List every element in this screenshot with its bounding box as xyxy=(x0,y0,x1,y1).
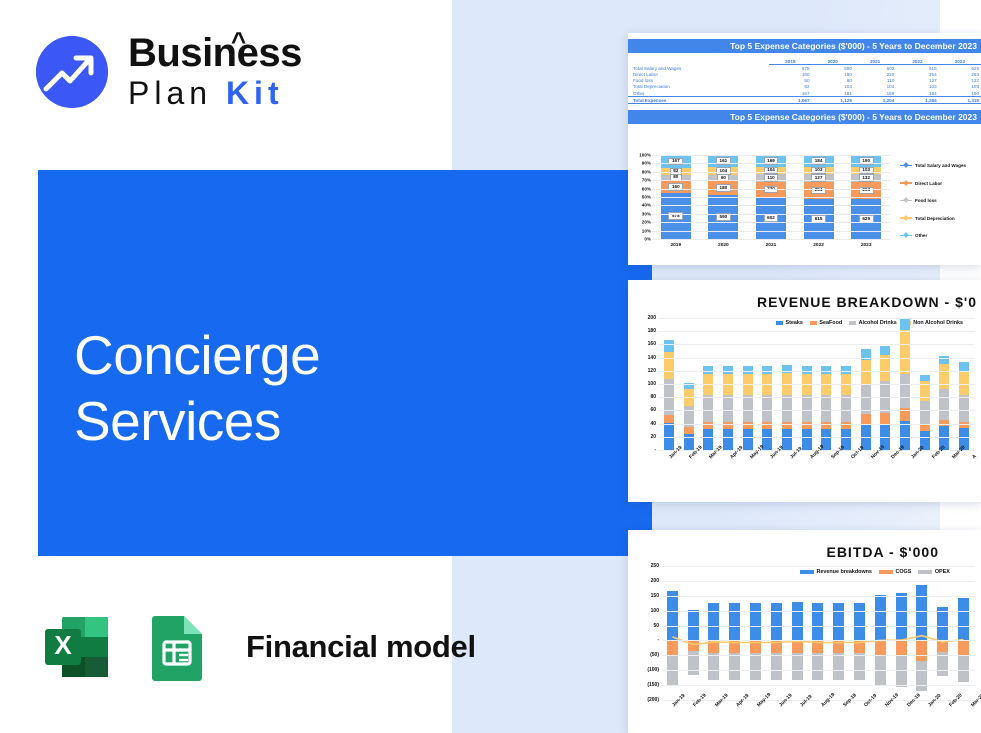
bar-opex xyxy=(708,653,719,680)
stacked-bar-segment xyxy=(900,330,910,374)
y-tick: 30% xyxy=(642,211,651,216)
gridline xyxy=(652,222,890,223)
stacked-bar-segment: 602 xyxy=(756,197,786,239)
brand-wordmark: ^ Business Plan Kit xyxy=(128,32,302,112)
legend-label: Direct Labor xyxy=(915,181,942,186)
stacked-bar-segment xyxy=(703,395,713,422)
stacked-bar-segment: 127 xyxy=(804,174,834,182)
stacked-bar-segment xyxy=(782,395,792,422)
bar-revenue xyxy=(896,593,907,640)
gridline xyxy=(658,358,975,359)
legend-label: Total Salary and Wages xyxy=(915,163,966,168)
stacked-bar-segment xyxy=(861,360,871,385)
y-tick: 80 xyxy=(650,394,656,400)
y-tick: 100% xyxy=(639,153,651,158)
svg-text:X: X xyxy=(54,630,72,660)
bar-cogs xyxy=(896,640,907,656)
legend-swatch xyxy=(900,235,912,237)
stacked-bar-segment: 167 xyxy=(661,155,691,168)
stacked-bar-segment xyxy=(802,395,812,422)
x-tick: 2020 xyxy=(718,243,729,248)
legend-swatch xyxy=(900,217,912,219)
bar-revenue xyxy=(833,603,844,641)
gridline xyxy=(652,231,890,232)
stacked-bar-segment xyxy=(900,318,910,330)
expense-categories-card: Top 5 Expense Categories ($'000) - 5 Yea… xyxy=(628,33,981,265)
legend-item: Other xyxy=(900,233,980,238)
stacked-bar-segment xyxy=(939,389,949,420)
stacked-bar-segment: 132 xyxy=(851,174,881,182)
x-tick: 2019 xyxy=(670,243,681,248)
bar-revenue xyxy=(771,603,782,641)
gridline xyxy=(662,611,975,612)
y-tick: (150) xyxy=(647,682,659,688)
stacked-bar-segment: 184 xyxy=(804,155,834,167)
bar-column xyxy=(957,566,970,700)
stacked-bar-segment xyxy=(959,362,969,371)
bar-revenue xyxy=(854,603,865,641)
bar-column xyxy=(666,566,679,700)
y-tick: 140 xyxy=(648,355,656,361)
bar-revenue xyxy=(792,602,803,640)
bar-cogs xyxy=(771,640,782,653)
stacked-bar-segment xyxy=(723,429,733,450)
bar-revenue xyxy=(916,585,927,640)
bar-revenue xyxy=(708,603,719,641)
stacked-bar-segment: 161 xyxy=(708,155,738,167)
expense-chart-legend: Total Salary and WagesDirect LaborFood l… xyxy=(900,163,980,251)
y-tick: (100) xyxy=(647,667,659,673)
revenue-chart-title: REVENUE BREAKDOWN - $'0 xyxy=(628,294,981,310)
stacked-bar-segment xyxy=(664,340,674,351)
brand-kit-text: Kit xyxy=(226,75,284,111)
gridline xyxy=(652,239,890,240)
y-tick: 180 xyxy=(648,328,656,334)
gridline xyxy=(662,596,975,597)
bar-value-label: 220 xyxy=(764,186,779,194)
bar-column xyxy=(770,566,783,700)
bar-opex xyxy=(854,653,865,680)
revenue-chart-plot: 20018016014012010080604020- xyxy=(632,318,977,450)
bar-opex xyxy=(916,661,927,691)
gridline xyxy=(662,670,975,671)
bar-column xyxy=(687,566,700,700)
gridline xyxy=(662,685,975,686)
stacked-bar-segment xyxy=(723,395,733,422)
gridline xyxy=(652,155,890,156)
bar-revenue xyxy=(958,598,969,641)
expense-stacked-chart: 100%90%80%70%60%50%40%30%20%10%0% 167828… xyxy=(630,155,894,250)
stacked-bar-segment xyxy=(664,415,674,423)
bar-value-label: 167 xyxy=(668,158,683,166)
bar-opex xyxy=(750,653,761,680)
bar-cogs xyxy=(792,640,803,653)
gridline xyxy=(658,397,975,398)
table-header-row: 2019 2020 2021 2022 2023 xyxy=(628,58,981,65)
brand-logo: ^ Business Plan Kit xyxy=(36,32,302,112)
ebitda-chart-plot: 25020015010050-(50)(100)(150)(200) xyxy=(632,566,977,700)
stacked-bar-segment xyxy=(920,401,930,424)
stacked-bar-segment xyxy=(880,346,890,355)
brand-plan-text: Plan xyxy=(128,75,212,111)
bar-revenue xyxy=(937,607,948,641)
y-tick: 90% xyxy=(642,161,651,166)
y-tick: 160 xyxy=(648,341,656,347)
bar-column xyxy=(874,566,887,700)
legend-label: Food loss xyxy=(915,198,937,203)
gridline xyxy=(662,566,975,567)
bar-revenue xyxy=(750,603,761,641)
gridline xyxy=(658,424,975,425)
gridline xyxy=(652,189,890,190)
gridline xyxy=(658,318,975,319)
bar-column xyxy=(728,566,741,700)
revenue-chart-x-axis: Jan-19Feb-19Mar-19Apr-19May-19Jun-19Jul-… xyxy=(655,454,978,494)
stacked-bar-segment xyxy=(664,352,674,379)
page-title: Concierge Services xyxy=(74,322,634,454)
google-sheets-icon xyxy=(138,608,216,686)
stacked-bar-segment xyxy=(703,429,713,450)
y-tick: - xyxy=(657,637,659,643)
circumflex-accent: ^ xyxy=(231,20,246,62)
brand-line-business: ^ Business xyxy=(128,32,302,74)
bar-opex xyxy=(812,653,823,680)
page-title-line-2: Services xyxy=(74,388,634,454)
table-row: Total Salary and Wages 578 590 602 615 6… xyxy=(628,65,981,72)
gridline xyxy=(658,331,975,332)
y-tick: 80% xyxy=(642,169,651,174)
stacked-bar-segment xyxy=(959,395,969,422)
table-total-row: Total Expenses 1,067 1,125 1,204 1,284 1… xyxy=(628,97,981,104)
bar-column xyxy=(853,566,866,700)
brand-line-plankit: Plan Kit xyxy=(128,74,302,112)
x-tick: 2022 xyxy=(813,243,824,248)
y-tick: 60% xyxy=(642,186,651,191)
bar-value-label: 602 xyxy=(764,214,779,222)
legend-item: Total Depreciation xyxy=(900,216,980,221)
brand-business-text: Business xyxy=(128,31,302,75)
y-tick: 50 xyxy=(653,623,659,629)
gridline xyxy=(658,344,975,345)
bar-opex xyxy=(833,653,844,680)
ebitda-chart-y-axis: 25020015010050-(50)(100)(150)(200) xyxy=(632,566,661,700)
format-badges-row: X Financial model xyxy=(38,608,476,686)
stacked-bar-segment: 590 xyxy=(708,195,738,239)
bar-opex xyxy=(792,653,803,680)
legend-label: Total Depreciation xyxy=(915,216,955,221)
bar-cogs xyxy=(708,640,719,653)
stacked-bar-segment xyxy=(920,424,930,431)
y-tick: 10% xyxy=(642,228,651,233)
gridline xyxy=(662,700,975,701)
stacked-bar-segment: 190 xyxy=(851,155,881,167)
bar-column xyxy=(832,566,845,700)
page-title-line-1: Concierge xyxy=(74,322,634,388)
table-row: Other 167 161 169 184 190 xyxy=(628,90,981,97)
revenue-chart-y-axis: 20018016014012010080604020- xyxy=(632,318,658,450)
bar-column xyxy=(936,566,949,700)
gridline xyxy=(652,214,890,215)
format-label: Financial model xyxy=(246,629,476,665)
gridline xyxy=(652,163,890,164)
bar-revenue xyxy=(875,595,886,640)
bar-revenue xyxy=(812,603,823,641)
y-tick: 100 xyxy=(648,381,656,387)
stacked-bar-segment: 103 xyxy=(804,167,834,174)
y-tick: 20% xyxy=(642,220,651,225)
stacked-bar-segment xyxy=(959,371,969,395)
y-tick: 20 xyxy=(650,434,656,440)
x-tick: A xyxy=(971,453,978,460)
bar-column xyxy=(707,566,720,700)
bar-column xyxy=(915,566,928,700)
bar-column xyxy=(811,566,824,700)
y-tick: 100 xyxy=(651,608,659,614)
gridline xyxy=(658,410,975,411)
y-tick: 0% xyxy=(644,237,651,242)
stacked-bar-segment xyxy=(880,413,890,424)
expense-chart-y-axis: 100%90%80%70%60%50%40%30%20%10%0% xyxy=(630,155,652,250)
gridline xyxy=(662,581,975,582)
stacked-bar-segment xyxy=(743,395,753,422)
stacked-bar-segment xyxy=(880,355,890,381)
bar-cogs xyxy=(854,640,865,653)
gridline xyxy=(652,180,890,181)
expense-chart-title: Top 5 Expense Categories ($'000) - 5 Yea… xyxy=(628,110,981,124)
stacked-bar-segment: 160 xyxy=(661,181,691,194)
bar-opex xyxy=(958,655,969,682)
stacked-bar-segment xyxy=(821,395,831,422)
stacked-bar-segment xyxy=(900,374,910,409)
bar-opex xyxy=(896,656,907,687)
y-tick: - xyxy=(654,447,656,453)
x-tick: 2021 xyxy=(766,243,777,248)
bar-cogs xyxy=(937,640,948,652)
bar-column xyxy=(895,566,908,700)
ebitda-chart-bars xyxy=(662,566,974,700)
revenue-breakdown-card: REVENUE BREAKDOWN - $'0 SteaksSeaFoodAlc… xyxy=(628,280,981,502)
bar-cogs xyxy=(875,640,886,655)
y-tick: 200 xyxy=(651,578,659,584)
bar-cogs xyxy=(812,640,823,653)
gridline xyxy=(652,172,890,173)
bar-column xyxy=(749,566,762,700)
legend-swatch xyxy=(900,182,912,184)
stacked-bar-segment xyxy=(743,429,753,450)
y-tick: (50) xyxy=(650,652,659,658)
stacked-bar-segment xyxy=(802,429,812,450)
x-tick: 2023 xyxy=(861,243,872,248)
microsoft-excel-icon: X xyxy=(38,608,116,686)
bar-value-label: 160 xyxy=(668,183,683,191)
y-tick: 40 xyxy=(650,421,656,427)
expense-table-title: Top 5 Expense Categories ($'000) - 5 Yea… xyxy=(628,39,981,53)
gridline xyxy=(662,626,975,627)
stacked-bar-segment: 578 xyxy=(661,193,691,239)
y-tick: 150 xyxy=(651,593,659,599)
y-tick: 60 xyxy=(650,407,656,413)
stacked-bar-segment: 169 xyxy=(756,155,786,167)
bar-revenue xyxy=(729,603,740,641)
y-tick: 50% xyxy=(642,195,651,200)
stacked-bar-segment: 220 xyxy=(756,182,786,197)
bar-column xyxy=(791,566,804,700)
bar-cogs xyxy=(750,640,761,653)
bar-opex xyxy=(729,653,740,680)
gridline xyxy=(652,205,890,206)
bar-cogs xyxy=(958,640,969,654)
legend-item: Food loss xyxy=(900,198,980,203)
stacked-bar-segment: 104 xyxy=(756,167,786,174)
ebitda-card: EBITDA - $'000 Revenue breakdownsCOGSOPE… xyxy=(628,530,981,733)
gridline xyxy=(662,640,975,641)
stacked-bar-segment xyxy=(841,395,851,422)
legend-swatch xyxy=(900,165,912,167)
stacked-bar-segment xyxy=(920,375,930,382)
y-tick: 250 xyxy=(651,563,659,569)
expense-table: 2019 2020 2021 2022 2023 Total Salary an… xyxy=(628,58,981,104)
gridline xyxy=(658,384,975,385)
legend-swatch xyxy=(900,200,912,202)
growth-arrow-icon xyxy=(36,36,108,108)
stacked-bar-segment xyxy=(684,427,694,434)
bar-cogs xyxy=(667,640,678,654)
bar-cogs xyxy=(688,640,699,651)
y-tick: 200 xyxy=(648,315,656,321)
legend-label: Other xyxy=(915,233,927,238)
gridline xyxy=(652,197,890,198)
bar-cogs xyxy=(916,640,927,660)
gridline xyxy=(662,655,975,656)
stacked-bar-segment xyxy=(762,395,772,422)
y-tick: 40% xyxy=(642,203,651,208)
ebitda-chart-x-axis: Jan-19Feb-19Mar-19Apr-19May-19Jun-19Jul-… xyxy=(658,702,978,732)
ebitda-chart-title: EBITDA - $'000 xyxy=(628,544,981,560)
bar-cogs xyxy=(833,640,844,653)
legend-item: Direct Labor xyxy=(900,181,980,186)
y-tick: 120 xyxy=(648,368,656,374)
y-tick: 70% xyxy=(642,178,651,183)
bar-cogs xyxy=(729,640,740,653)
bar-revenue xyxy=(667,591,678,640)
gridline xyxy=(658,437,975,438)
bar-opex xyxy=(771,653,782,680)
legend-item: Total Salary and Wages xyxy=(900,163,980,168)
gridline xyxy=(658,371,975,372)
